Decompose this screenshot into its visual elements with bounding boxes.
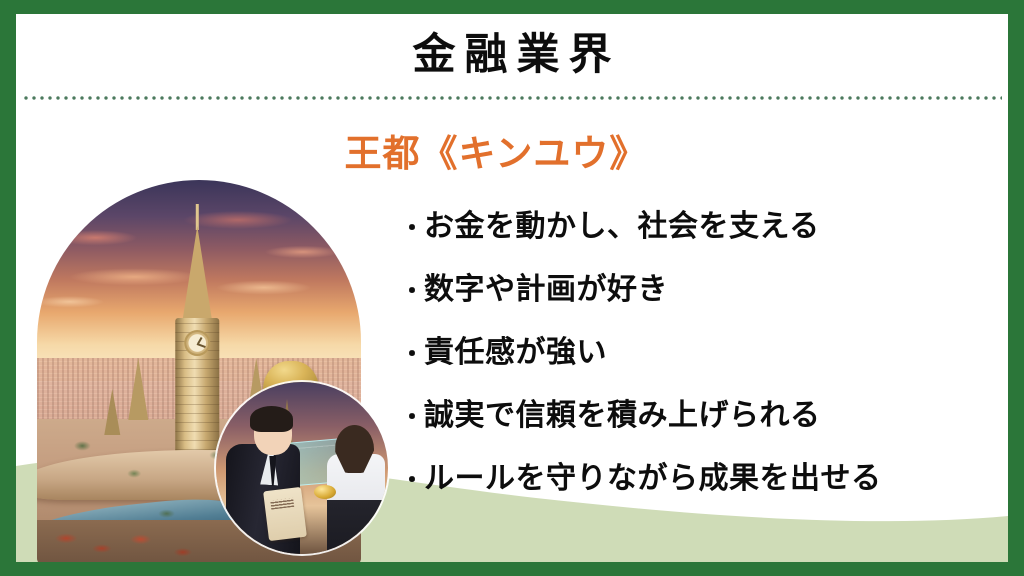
tower-spire — [182, 226, 212, 322]
list-item-label: お金を動かし、社会を支える — [424, 210, 820, 243]
list-item-label: 誠実で信頼を積み上げられる — [424, 399, 821, 432]
list-item: ・ お金を動かし、社会を支える — [400, 210, 1000, 245]
list-item-label: 数字や計画が好き — [424, 273, 668, 306]
list-item: ・ ルールを守りながら成果を出せる — [400, 462, 1000, 497]
bullet-marker-icon: ・ — [400, 464, 424, 497]
bullet-marker-icon: ・ — [400, 212, 424, 245]
bullet-marker-icon: ・ — [400, 275, 424, 308]
list-item: ・ 数字や計画が好き — [400, 273, 1000, 308]
list-item: ・ 責任感が強い — [400, 336, 1000, 371]
businessman-hair — [250, 406, 293, 432]
list-item-label: ルールを守りながら成果を出せる — [424, 462, 882, 495]
page-title: 金融業界 — [16, 30, 1008, 80]
bullet-marker-icon: ・ — [400, 401, 424, 434]
dotted-divider — [22, 96, 1002, 100]
clock-face-icon — [184, 330, 210, 356]
slide-canvas: 金融業界 王都《キンユウ》 — [16, 14, 1008, 562]
contract-scroll — [263, 486, 307, 540]
bullet-marker-icon: ・ — [400, 338, 424, 371]
bullet-list: ・ お金を動かし、社会を支える ・ 数字や計画が好き ・ 責任感が強い ・ 誠実… — [400, 210, 1000, 525]
list-item-label: 責任感が強い — [424, 336, 607, 369]
slide-frame: 金融業界 王都《キンユウ》 — [0, 0, 1024, 576]
page-subtitle: 王都《キンユウ》 — [146, 131, 846, 177]
business-pair-inset-illustration — [216, 382, 388, 554]
list-item: ・ 誠実で信頼を積み上げられる — [400, 399, 1000, 434]
